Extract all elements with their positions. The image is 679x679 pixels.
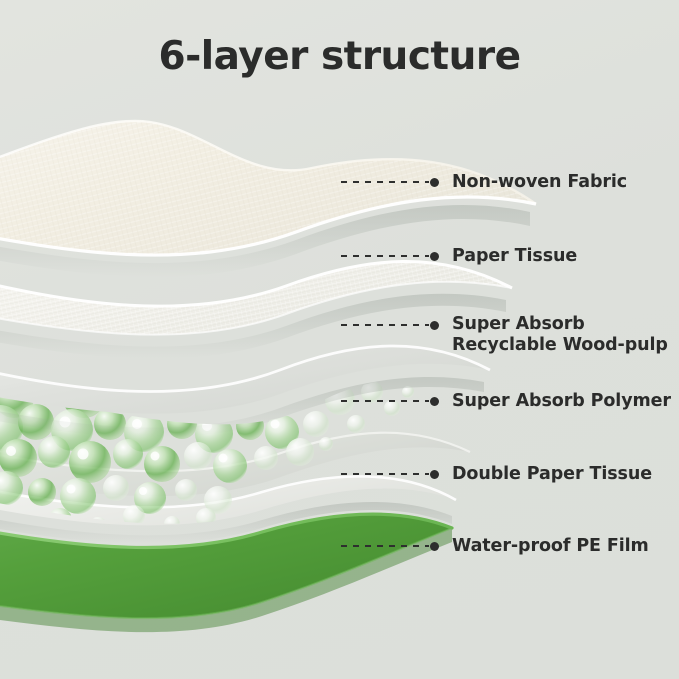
callout-label-super-absorb-recyclable-wood-pulp: Super Absorb Recyclable Wood-pulp: [452, 314, 668, 356]
layer-super-absorb-recyclable-wood-pulp: [0, 346, 490, 438]
leader-line-5: [341, 473, 429, 475]
callout-label-non-woven-fabric: Non-woven Fabric: [452, 172, 627, 193]
callout-dot-6: [430, 542, 439, 551]
callout-label-super-absorb-polymer: Super Absorb Polymer: [452, 391, 671, 412]
layer-paper-tissue: [0, 261, 512, 358]
leader-line-2: [341, 255, 429, 257]
callout-dot-1: [430, 178, 439, 187]
callout-label-paper-tissue: Paper Tissue: [452, 246, 577, 267]
callout-dot-2: [430, 252, 439, 261]
leader-line-1: [341, 181, 429, 183]
callout-label-water-proof-pe-film: Water-proof PE Film: [452, 536, 649, 557]
callout-dot-4: [430, 397, 439, 406]
leader-line-6: [341, 545, 429, 547]
page-title: 6-layer structure: [0, 34, 679, 79]
leader-line-3: [341, 324, 429, 326]
leader-line-4: [341, 400, 429, 402]
layer-structure-infographic: 6-layer structure Non-woven Fabric Paper…: [0, 0, 679, 679]
callout-label-double-paper-tissue: Double Paper Tissue: [452, 464, 652, 485]
callout-dot-3: [430, 321, 439, 330]
callout-dot-5: [430, 470, 439, 479]
